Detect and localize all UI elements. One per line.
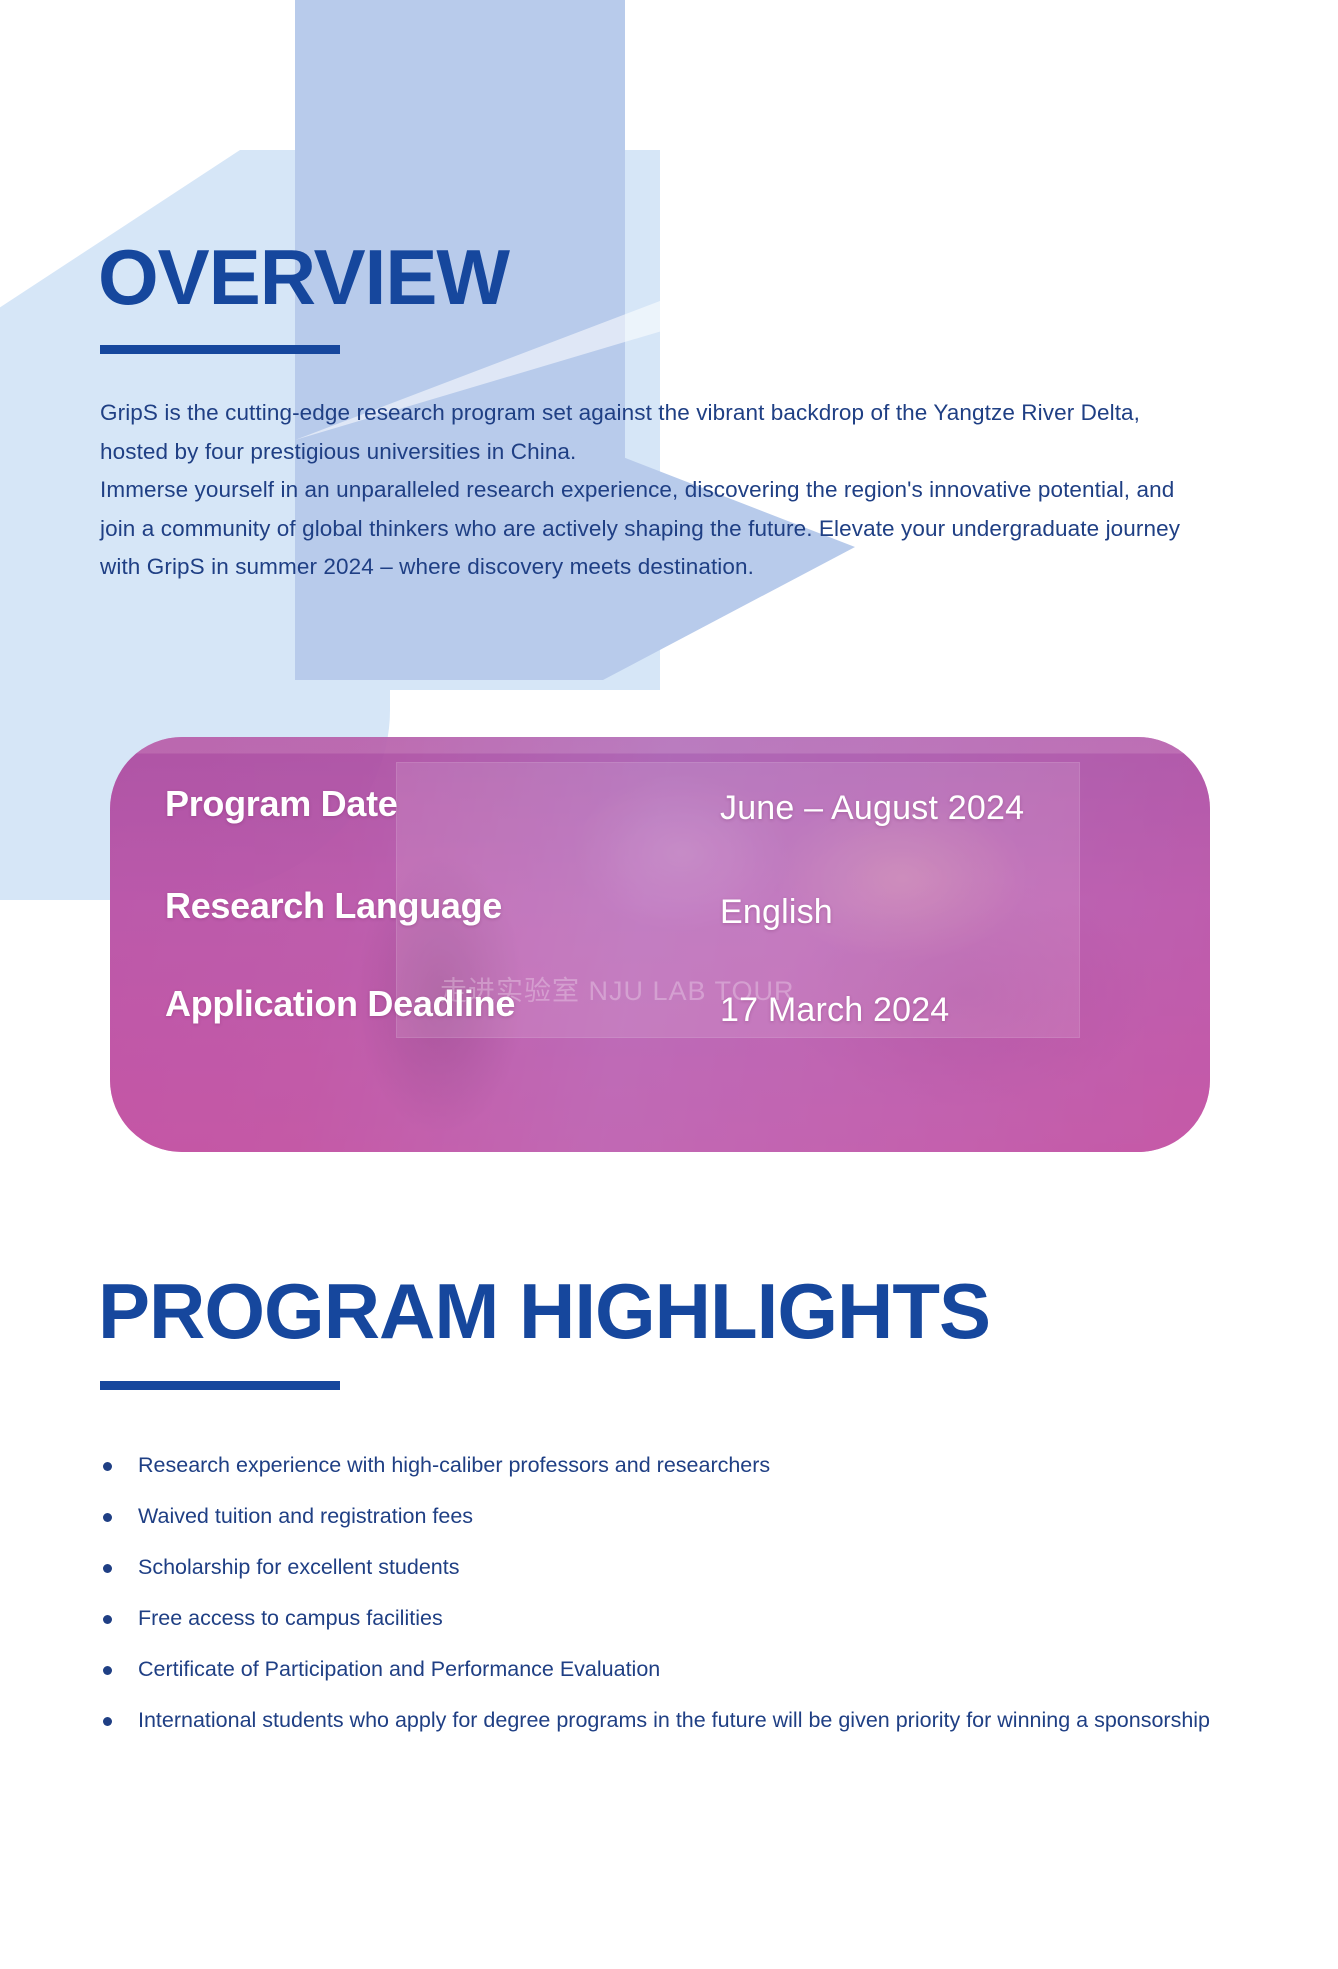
info-value-research-language: English <box>720 893 833 932</box>
bullet-dot-icon <box>103 1717 112 1726</box>
overview-heading: OVERVIEW <box>98 238 509 316</box>
bullet-dot-icon <box>103 1513 112 1522</box>
bullet-dot-icon <box>103 1564 112 1573</box>
list-item: Certificate of Participation and Perform… <box>98 1644 1228 1695</box>
info-label-program-date: Program Date <box>165 783 397 825</box>
bullet-dot-icon <box>103 1666 112 1675</box>
list-item: Research experience with high-caliber pr… <box>98 1440 1228 1491</box>
program-info-rows: Program Date June – August 2024 Research… <box>110 737 1210 1152</box>
info-label-research-language: Research Language <box>165 885 502 927</box>
info-row-application-deadline: Application Deadline 17 March 2024 <box>110 977 1210 1075</box>
list-item-label: Scholarship for excellent students <box>138 1542 1228 1593</box>
info-row-research-language: Research Language English <box>110 879 1210 977</box>
info-value-program-date: June – August 2024 <box>720 789 1024 828</box>
bullet-dot-icon <box>103 1615 112 1624</box>
overview-paragraph-1: GripS is the cutting-edge research progr… <box>100 394 1190 471</box>
program-highlights-heading: PROGRAM HIGHLIGHTS <box>98 1272 990 1350</box>
overview-paragraph-2: Immerse yourself in an unparalleled rese… <box>100 471 1190 587</box>
info-row-program-date: Program Date June – August 2024 <box>110 781 1210 879</box>
list-item-label: Research experience with high-caliber pr… <box>138 1440 1228 1491</box>
overview-heading-underline <box>100 345 340 354</box>
list-item-label: Free access to campus facilities <box>138 1593 1228 1644</box>
page-content: OVERVIEW GripS is the cutting-edge resea… <box>0 0 1338 1969</box>
list-item: International students who apply for deg… <box>98 1695 1228 1746</box>
info-label-application-deadline: Application Deadline <box>165 983 515 1025</box>
list-item: Scholarship for excellent students <box>98 1542 1228 1593</box>
list-item-label: Certificate of Participation and Perform… <box>138 1644 1228 1695</box>
list-item-label: Waived tuition and registration fees <box>138 1491 1228 1542</box>
list-item-label: International students who apply for deg… <box>138 1695 1228 1746</box>
bullet-dot-icon <box>103 1462 112 1471</box>
list-item: Free access to campus facilities <box>98 1593 1228 1644</box>
info-value-application-deadline: 17 March 2024 <box>720 991 949 1030</box>
program-highlights-heading-underline <box>100 1381 340 1390</box>
program-info-card: 走进实验室 NJU LAB TOUR Program Date June – A… <box>110 737 1210 1152</box>
list-item: Waived tuition and registration fees <box>98 1491 1228 1542</box>
overview-paragraphs: GripS is the cutting-edge research progr… <box>100 394 1190 587</box>
program-highlights-list: Research experience with high-caliber pr… <box>98 1440 1228 1746</box>
